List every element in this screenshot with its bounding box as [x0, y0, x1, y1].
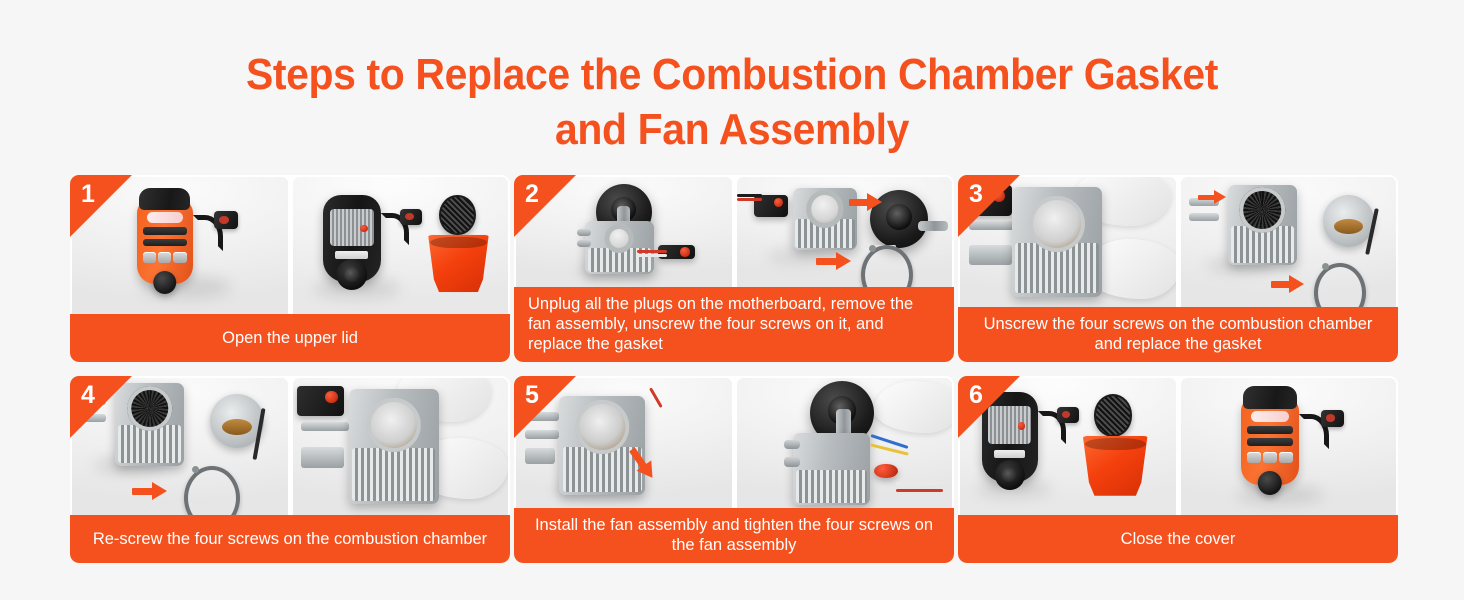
step-card-6: 6 — [958, 376, 1398, 563]
pointer-arrow-icon — [83, 393, 100, 398]
page-title: Steps to Replace the Combustion Chamber … — [0, 47, 1464, 157]
photo-4b-rescrew-chamber — [293, 378, 509, 515]
step-5-photos — [514, 376, 954, 508]
step-2-caption-text: Unplug all the plugs on the motherboard,… — [528, 294, 940, 354]
photo-5b-tighten-screws — [737, 378, 953, 508]
pointer-arrow-icon — [132, 488, 154, 495]
step-6-caption-text: Close the cover — [972, 529, 1384, 549]
step-3-photos — [958, 175, 1398, 307]
step-card-2: 2 — [514, 175, 954, 362]
photo-6a-open-heater-and-cover — [960, 378, 1176, 515]
photo-4a-core-motor-gasket — [72, 378, 288, 515]
step-3-caption: Unscrew the four screws on the combustio… — [958, 307, 1398, 362]
step-card-4: 4 — [70, 376, 510, 563]
step-4-caption-text: Re-screw the four screws on the combusti… — [84, 529, 496, 549]
pointer-arrow-icon — [849, 199, 869, 206]
step-4-caption: Re-screw the four screws on the combusti… — [70, 515, 510, 563]
photo-6b-closed-heater — [1181, 378, 1397, 515]
step-card-1: 1 — [70, 175, 510, 362]
photo-1b-open-heater-and-red-cover — [293, 177, 509, 314]
pointer-arrow-icon — [1198, 195, 1216, 200]
photo-5a-install-fan-assembly — [516, 378, 732, 508]
step-3-caption-text: Unscrew the four screws on the combustio… — [972, 314, 1384, 354]
photo-3b-vanes-and-gasket — [1181, 177, 1397, 307]
step-1-caption-text: Open the upper lid — [84, 328, 496, 348]
photo-2a-unplug-motherboard — [516, 177, 732, 287]
pointer-arrow-icon — [816, 258, 838, 265]
instruction-poster: Steps to Replace the Combustion Chamber … — [0, 0, 1464, 600]
photo-2b-remove-fan-and-gasket — [737, 177, 953, 287]
page-title-line-1: Steps to Replace the Combustion Chamber … — [51, 47, 1413, 102]
step-5-caption-text: Install the fan assembly and tighten the… — [528, 515, 940, 555]
step-5-caption: Install the fan assembly and tighten the… — [514, 508, 954, 563]
step-4-photos — [70, 376, 510, 515]
photo-1a-closed-heater — [72, 177, 288, 314]
step-card-3: 3 — [958, 175, 1398, 362]
step-card-5: 5 — [514, 376, 954, 563]
step-6-photos — [958, 376, 1398, 515]
photo-3a-unscrew-chamber — [960, 177, 1176, 307]
step-2-photos — [514, 175, 954, 287]
page-title-line-2: and Fan Assembly — [51, 102, 1413, 157]
step-1-caption: Open the upper lid — [70, 314, 510, 362]
pointer-arrow-icon — [1271, 281, 1291, 288]
step-6-caption: Close the cover — [958, 515, 1398, 563]
steps-grid: 1 — [70, 175, 1398, 563]
step-2-caption: Unplug all the plugs on the motherboard,… — [514, 287, 954, 362]
step-1-photos — [70, 175, 510, 314]
